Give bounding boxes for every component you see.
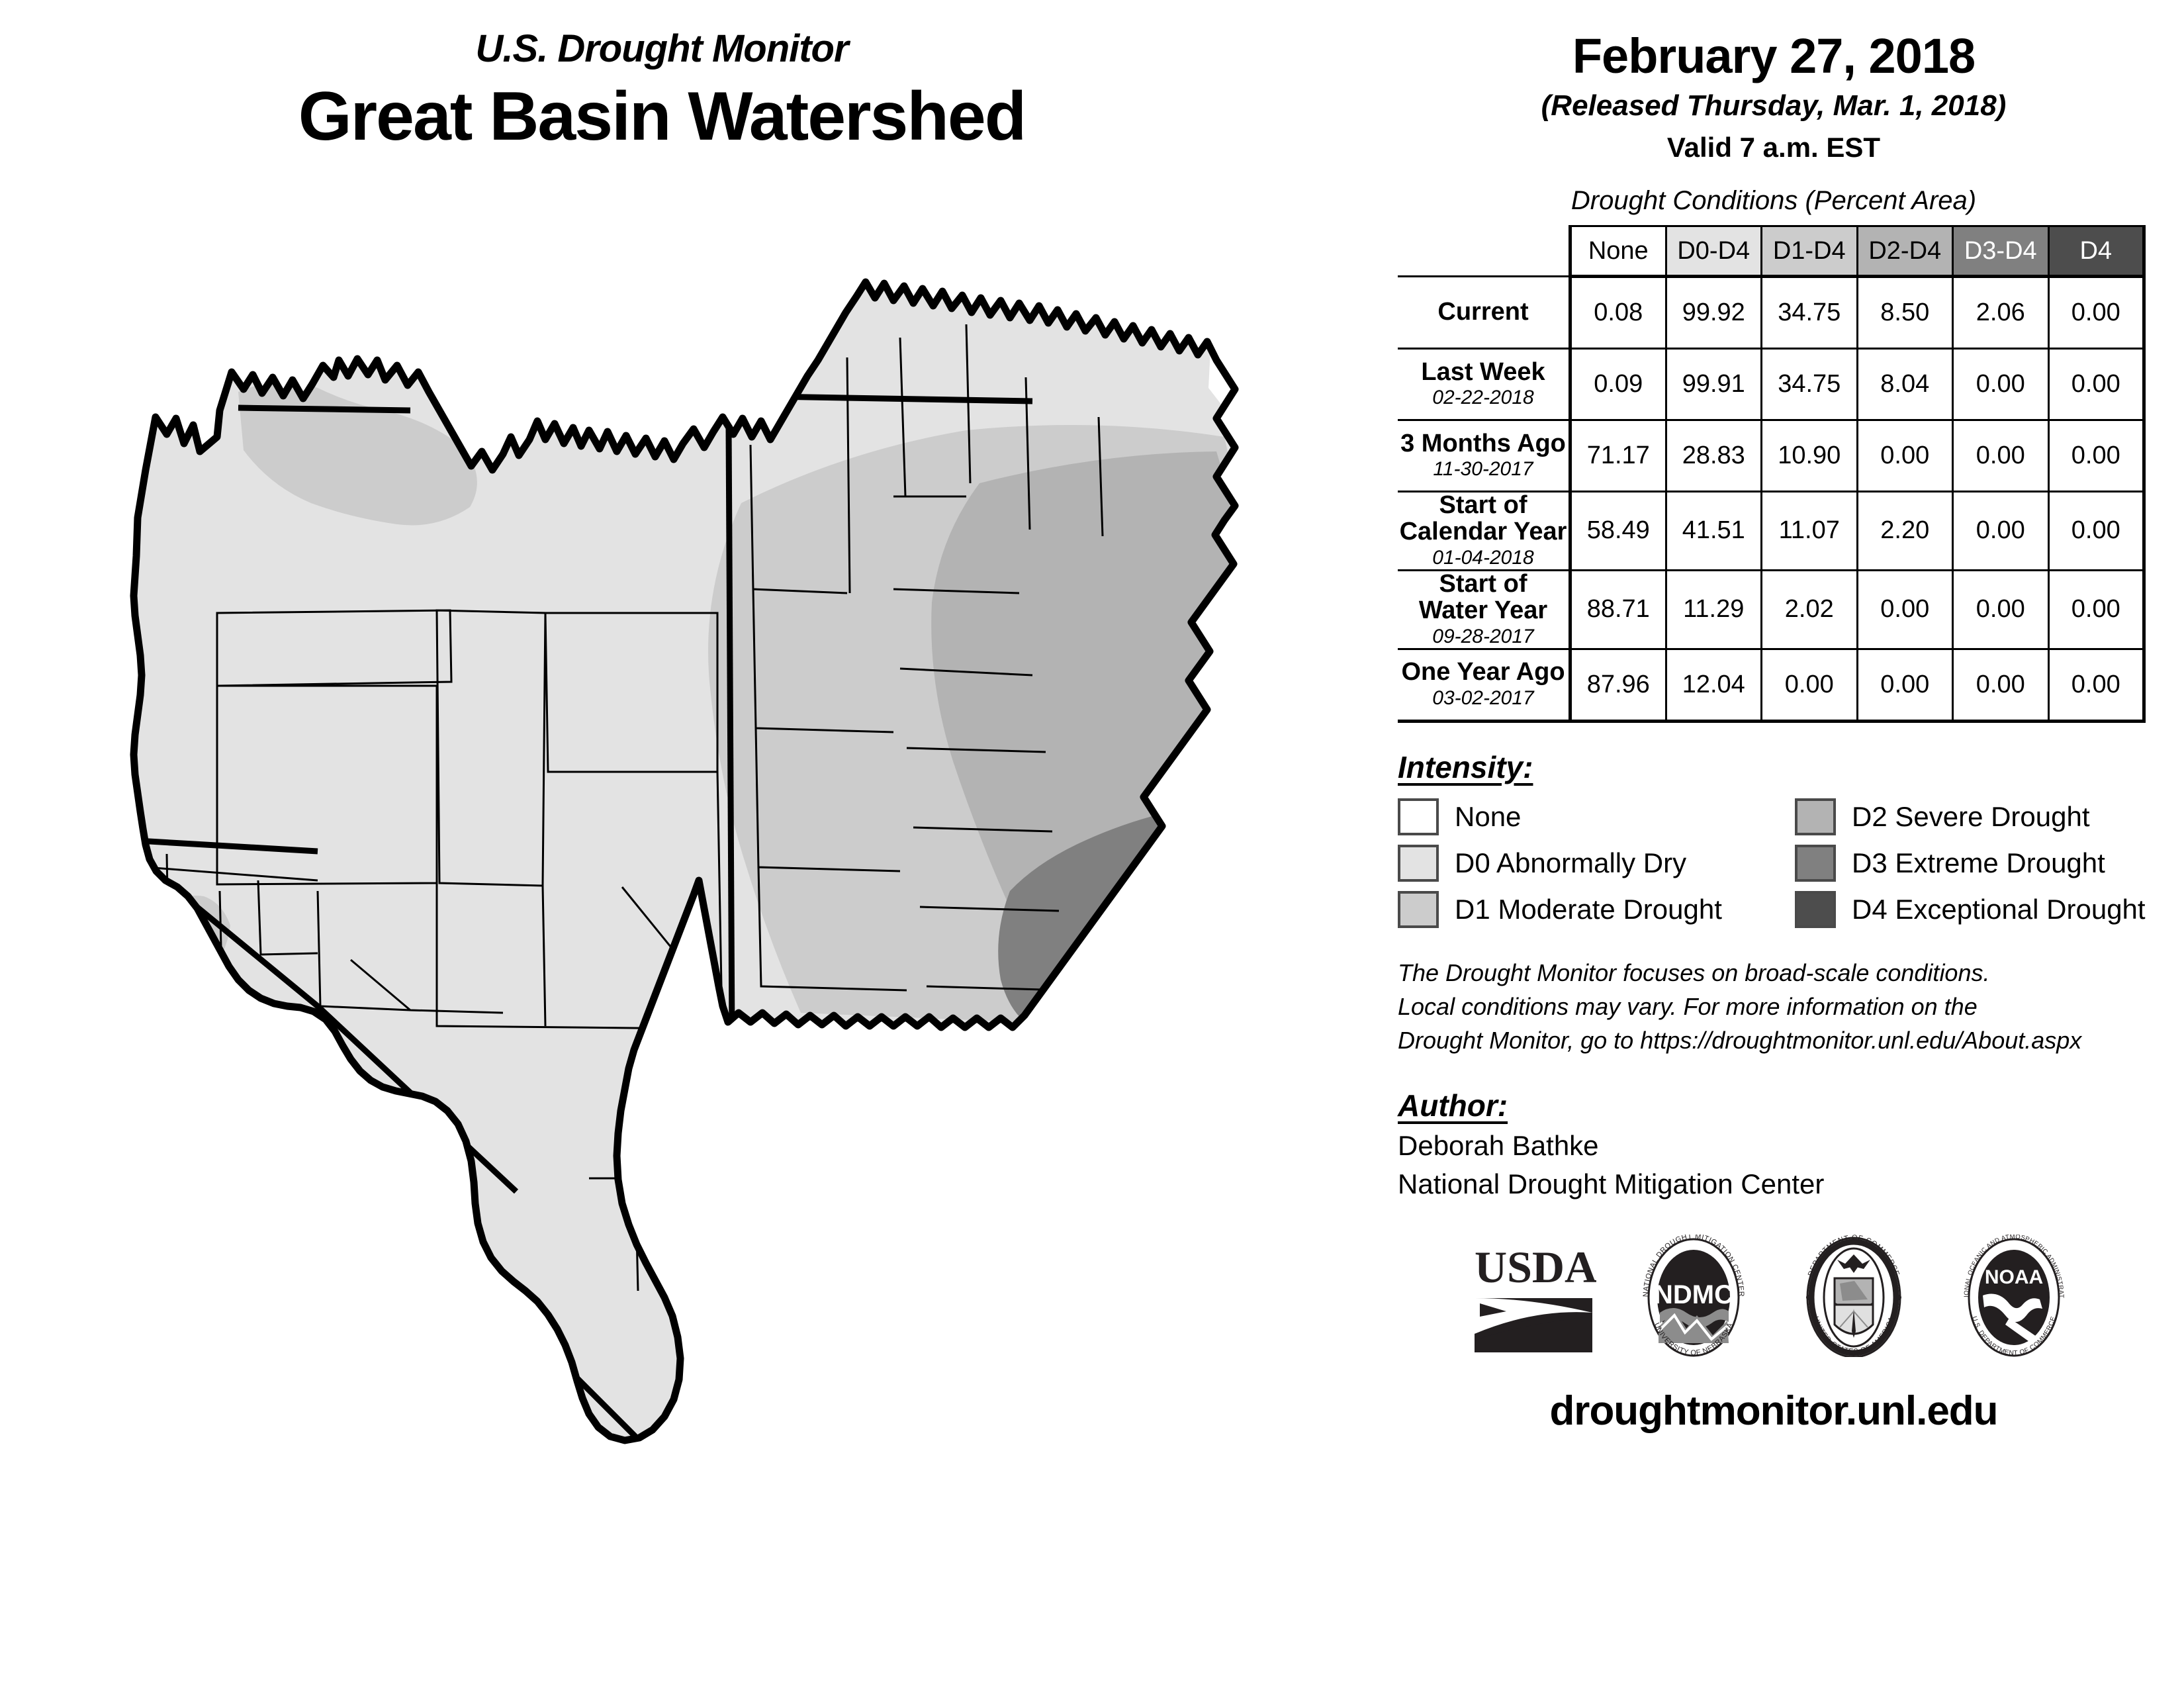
table-cell: 0.00 (1953, 349, 2049, 420)
legend-item: D4 Exceptional Drought (1795, 891, 2184, 928)
drought-conditions-table: NoneD0-D4D1-D4D2-D4D3-D4D4 Current0.0899… (1398, 225, 2146, 723)
page-title: Great Basin Watershed (0, 77, 1324, 156)
legend-label: D1 Moderate Drought (1455, 894, 1722, 925)
author-name: Deborah Bathke (1398, 1130, 2184, 1162)
legend-swatch (1398, 891, 1439, 928)
table-cell: 34.75 (1762, 277, 1858, 349)
table-cell: 0.08 (1570, 277, 1666, 349)
ndmc-logo: NDMC NATIONAL DROUGHT MITIGATION CENTER … (1631, 1235, 1756, 1357)
table-header-d2-d4: D2-D4 (1857, 226, 1953, 277)
table-cell: 71.17 (1570, 420, 1666, 492)
table-header-row: NoneD0-D4D1-D4D2-D4D3-D4D4 (1398, 226, 2144, 277)
row-label-text: Water Year (1398, 598, 1569, 624)
author-heading: Author: (1398, 1088, 2184, 1123)
table-row: Last Week02-22-20180.0999.9134.758.040.0… (1398, 349, 2144, 420)
page-subtitle: U.S. Drought Monitor (0, 26, 1324, 71)
author-affiliation: National Drought Mitigation Center (1398, 1168, 2184, 1200)
table-cell: 34.75 (1762, 349, 1858, 420)
table-cell: 28.83 (1666, 420, 1762, 492)
table-row: One Year Ago03-02-201787.9612.040.000.00… (1398, 649, 2144, 721)
report-date: February 27, 2018 (1363, 28, 2184, 84)
date-block: February 27, 2018 (Released Thursday, Ma… (1363, 0, 2184, 164)
row-label-text: One Year Ago (1398, 659, 1569, 686)
table-cell: 8.04 (1857, 349, 1953, 420)
table-cell: 0.00 (1953, 492, 2049, 571)
svg-text:USDA: USDA (1475, 1242, 1596, 1292)
row-label: Start ofWater Year09-28-2017 (1398, 570, 1570, 649)
table-cell: 2.20 (1857, 492, 1953, 571)
row-label-text: 3 Months Ago (1398, 431, 1569, 457)
table-row: Current0.0899.9234.758.502.060.00 (1398, 277, 2144, 349)
row-label-date: 01-04-2018 (1398, 547, 1569, 569)
legend-item: D3 Extreme Drought (1795, 845, 2184, 882)
map-panel: U.S. Drought Monitor Great Basin Watersh… (0, 0, 1363, 1688)
svg-text:NDMC: NDMC (1654, 1280, 1733, 1309)
table-cell: 0.00 (1953, 570, 2049, 649)
disclaimer-text: The Drought Monitor focuses on broad-sca… (1398, 956, 2184, 1057)
legend-label: D4 Exceptional Drought (1852, 894, 2146, 925)
noaa-logo: NOAA NATIONAL OCEANIC AND ATMOSPHERIC AD… (1951, 1235, 2077, 1357)
table-cell: 99.91 (1666, 349, 1762, 420)
table-cell: 87.96 (1570, 649, 1666, 721)
legend-swatch (1398, 845, 1439, 882)
table-cell: 12.04 (1666, 649, 1762, 721)
intensity-legend: NoneD2 Severe DroughtD0 Abnormally DryD3… (1398, 798, 2184, 928)
great-basin-watershed-map[interactable] (40, 218, 1297, 1516)
table-cell: 0.00 (2048, 570, 2144, 649)
table-cell: 88.71 (1570, 570, 1666, 649)
table-cell: 8.50 (1857, 277, 1953, 349)
row-label-text: Start of (1398, 492, 1569, 519)
disclaimer-line-2: Local conditions may vary. For more info… (1398, 990, 2184, 1023)
header-spacer (1398, 226, 1570, 277)
disclaimer-line-3: Drought Monitor, go to https://droughtmo… (1398, 1023, 2184, 1057)
legend-swatch (1795, 845, 1836, 882)
table-cell: 0.00 (1857, 420, 1953, 492)
table-cell: 0.00 (1762, 649, 1858, 721)
table-cell: 0.00 (2048, 649, 2144, 721)
doc-seal-logo: DEPARTMENT OF COMMERCE UNITED STATES OF … (1791, 1235, 1917, 1357)
legend-item: D0 Abnormally Dry (1398, 845, 1795, 882)
site-url[interactable]: droughtmonitor.unl.edu (1363, 1387, 2184, 1434)
row-label-text: Last Week (1398, 359, 1569, 386)
table-row: Start ofCalendar Year01-04-201858.4941.5… (1398, 492, 2144, 571)
table-cell: 0.00 (2048, 492, 2144, 571)
table-cell: 41.51 (1666, 492, 1762, 571)
map-drought-fills (40, 218, 1297, 1516)
release-date: (Released Thursday, Mar. 1, 2018) (1363, 89, 2184, 122)
table-cell: 58.49 (1570, 492, 1666, 571)
legend-label: D3 Extreme Drought (1852, 847, 2105, 879)
title-block: U.S. Drought Monitor Great Basin Watersh… (0, 26, 1324, 156)
table-cell: 10.90 (1762, 420, 1858, 492)
row-label-text: Current (1398, 299, 1569, 326)
legend-item: None (1398, 798, 1795, 835)
info-panel: February 27, 2018 (Released Thursday, Ma… (1363, 0, 2184, 1688)
row-label-text: Start of (1398, 571, 1569, 598)
valid-time: Valid 7 a.m. EST (1363, 132, 2184, 164)
row-label-date: 02-22-2018 (1398, 387, 1569, 409)
table-cell: 0.00 (1857, 649, 1953, 721)
table-cell: 99.92 (1666, 277, 1762, 349)
legend-label: D2 Severe Drought (1852, 801, 2090, 833)
table-cell: 0.00 (2048, 277, 2144, 349)
legend-swatch (1795, 891, 1836, 928)
table-cell: 0.00 (2048, 420, 2144, 492)
table-cell: 11.29 (1666, 570, 1762, 649)
table-caption: Drought Conditions (Percent Area) (1363, 186, 2184, 216)
disclaimer-line-1: The Drought Monitor focuses on broad-sca… (1398, 956, 2184, 990)
legend-swatch (1398, 798, 1439, 835)
table-cell: 2.06 (1953, 277, 2049, 349)
legend-label: None (1455, 801, 1521, 833)
row-label-date: 03-02-2017 (1398, 687, 1569, 710)
row-label: Last Week02-22-2018 (1398, 349, 1570, 420)
legend-label: D0 Abnormally Dry (1455, 847, 1686, 879)
row-label: Current (1398, 277, 1570, 349)
table-header-d1-d4: D1-D4 (1762, 226, 1858, 277)
row-label-text: Calendar Year (1398, 519, 1569, 545)
table-body: Current0.0899.9234.758.502.060.00Last We… (1398, 277, 2144, 722)
usda-logo: USDA (1471, 1235, 1596, 1357)
legend-item: D2 Severe Drought (1795, 798, 2184, 835)
table-row: 3 Months Ago11-30-201771.1728.8310.900.0… (1398, 420, 2144, 492)
table-header-d4: D4 (2048, 226, 2144, 277)
table-cell: 0.00 (1953, 649, 2049, 721)
svg-text:NOAA: NOAA (1985, 1266, 2043, 1288)
logo-row: USDA NDMC NATIONAL DROUGHT MITIGATION CE… (1363, 1235, 2184, 1357)
table-cell: 0.00 (2048, 349, 2144, 420)
legend-swatch (1795, 798, 1836, 835)
row-label: 3 Months Ago11-30-2017 (1398, 420, 1570, 492)
row-label-date: 11-30-2017 (1398, 458, 1569, 481)
table-cell: 2.02 (1762, 570, 1858, 649)
intensity-heading: Intensity: (1398, 749, 2184, 785)
table-cell: 0.09 (1570, 349, 1666, 420)
table-row: Start ofWater Year09-28-201788.7111.292.… (1398, 570, 2144, 649)
table-cell: 0.00 (1953, 420, 2049, 492)
table-cell: 0.00 (1857, 570, 1953, 649)
legend-item: D1 Moderate Drought (1398, 891, 1795, 928)
row-label: Start ofCalendar Year01-04-2018 (1398, 492, 1570, 571)
table-cell: 11.07 (1762, 492, 1858, 571)
row-label: One Year Ago03-02-2017 (1398, 649, 1570, 721)
table-header-d0-d4: D0-D4 (1666, 226, 1762, 277)
table-header-d3-d4: D3-D4 (1953, 226, 2049, 277)
row-label-date: 09-28-2017 (1398, 626, 1569, 648)
table-header-none: None (1570, 226, 1666, 277)
